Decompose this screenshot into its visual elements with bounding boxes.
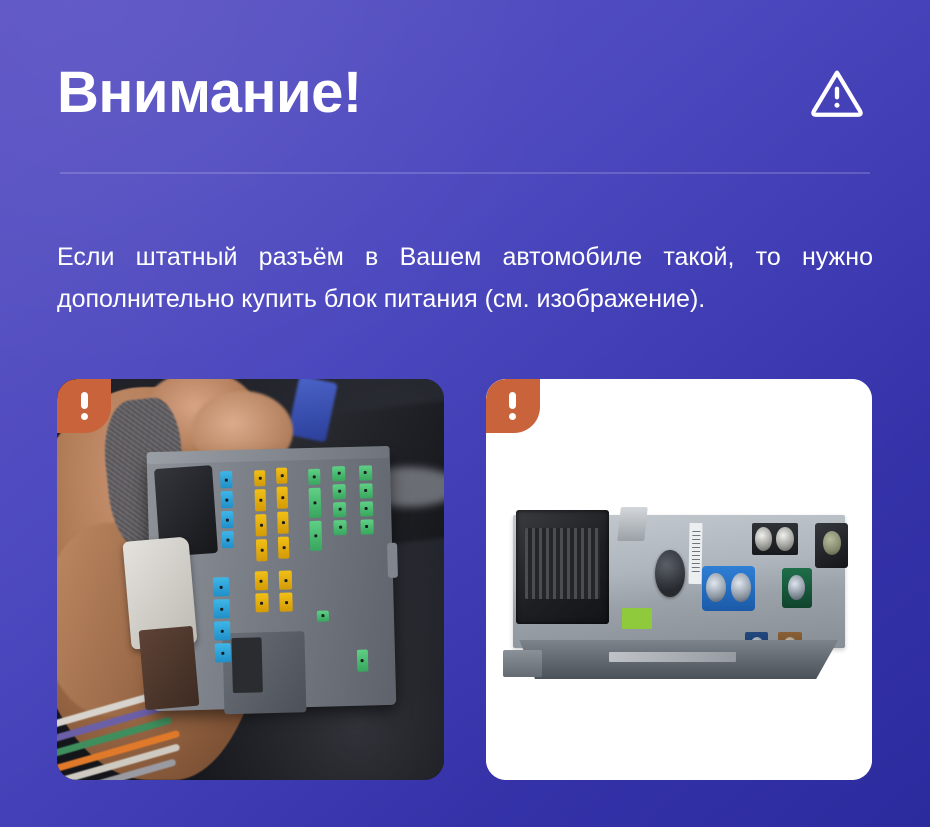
card-power-supply-module[interactable] — [486, 379, 873, 780]
power-supply-module-photo — [486, 379, 873, 780]
exclamation-badge-icon — [486, 379, 540, 433]
body-line-2: дополнительно купить блок питания (см. и… — [57, 278, 873, 320]
header-divider — [60, 172, 870, 174]
warning-banner: Внимание! Если штатный разъём в Вашем ав… — [0, 0, 930, 827]
warning-triangle-icon — [808, 64, 866, 122]
body-copy: Если штатный разъём в Вашем автомобиле т… — [57, 236, 873, 320]
exclamation-badge-icon — [57, 379, 111, 433]
image-cards — [57, 379, 872, 780]
card-car-connector[interactable] — [57, 379, 444, 780]
banner-header: Внимание! — [57, 48, 872, 138]
page-title: Внимание! — [57, 63, 362, 124]
car-connector-photo — [57, 379, 444, 780]
body-line-1: Если штатный разъём в Вашем автомобиле т… — [57, 236, 873, 278]
